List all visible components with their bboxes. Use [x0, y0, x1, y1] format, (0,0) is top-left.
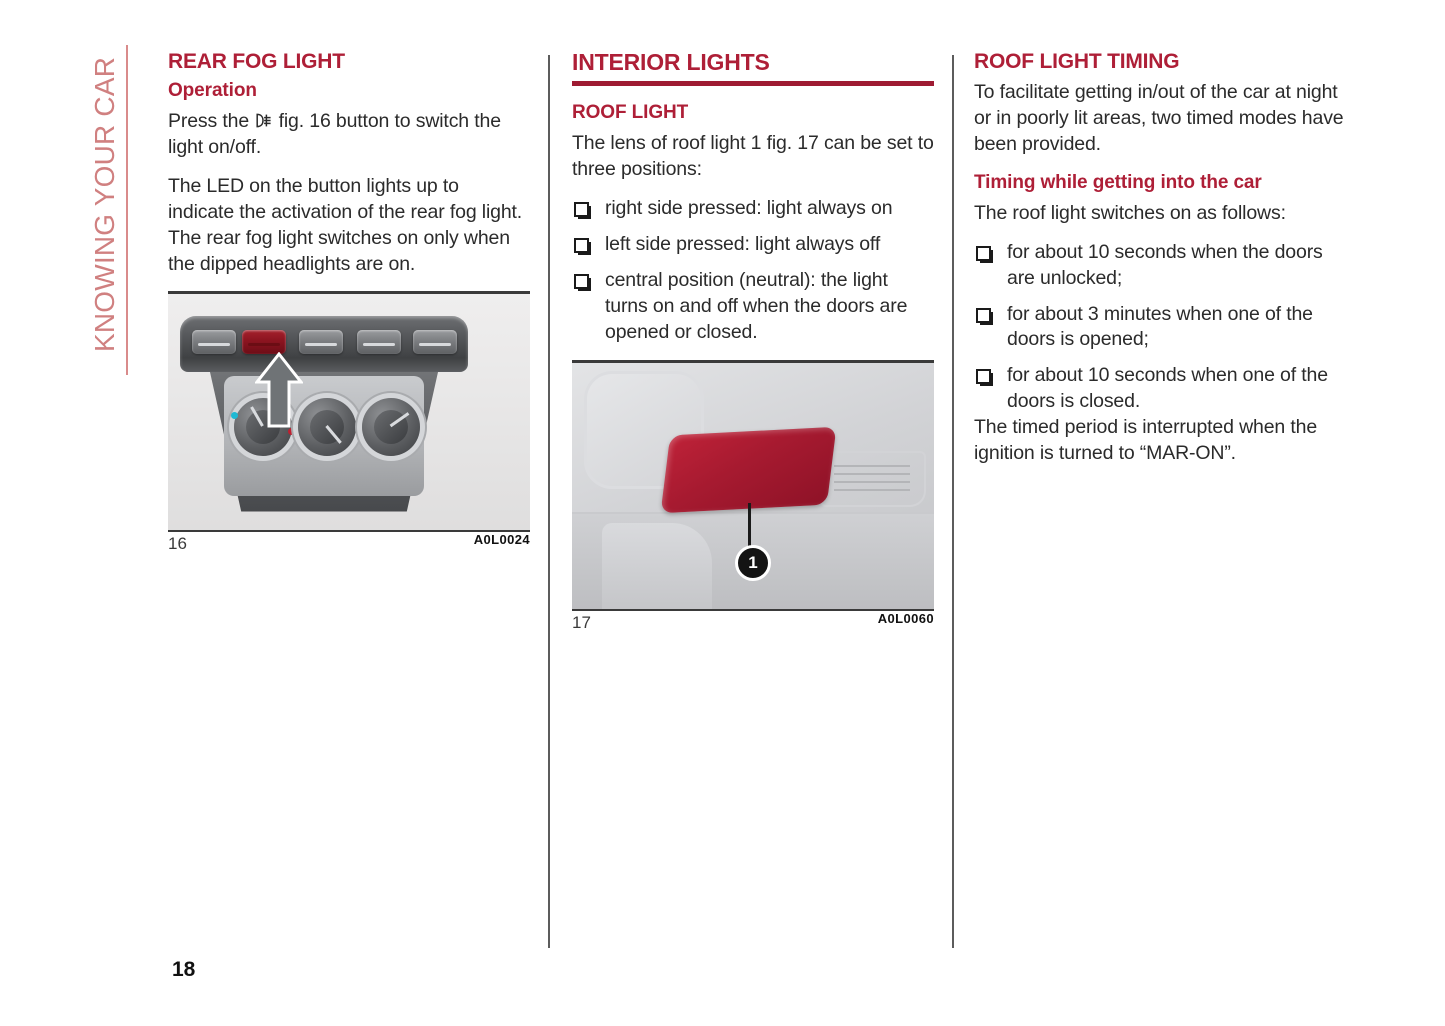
roof-light-timing-list: for about 10 seconds when the doors are … [974, 240, 1346, 416]
pillar-trim [602, 523, 712, 609]
figure-16-number: 16 [168, 534, 187, 554]
subheading-operation: Operation [168, 80, 530, 102]
paragraph-timed-period-interrupted: The timed period is interrupted when the… [974, 415, 1346, 467]
callout-arrow-icon [255, 352, 303, 428]
chapter-side-tab: KNOWING YOUR CAR [78, 45, 128, 375]
paragraph-press-button-part1: Press the [168, 110, 254, 132]
console-button-3 [299, 330, 343, 354]
figure-16-image [168, 294, 530, 530]
heading-interior-lights: INTERIOR LIGHTS [572, 50, 934, 78]
square-bullet-icon [574, 274, 589, 289]
figure-16-code: A0L0024 [474, 532, 530, 547]
console-button-5 [413, 330, 457, 354]
figure-16-caption: 16 A0L0024 [168, 532, 530, 558]
paragraph-switches-on-as-follows: The roof light switches on as follows: [974, 201, 1346, 227]
column-left: REAR FOG LIGHT Operation Press the fig. … [168, 50, 530, 558]
paragraph-timed-modes: To facilitate getting in/out of the car … [974, 80, 1346, 158]
figure-17-number: 17 [572, 613, 591, 633]
square-bullet-icon [976, 369, 991, 384]
column-middle: INTERIOR LIGHTS ROOF LIGHT The lens of r… [572, 50, 934, 637]
square-bullet-icon [574, 202, 589, 217]
heading-roof-light-timing: ROOF LIGHT TIMING [974, 50, 1346, 74]
paragraph-lens-positions: The lens of roof light 1 fig. 17 can be … [572, 131, 934, 183]
console-button-bar [180, 316, 468, 372]
air-distribution-dial [362, 398, 420, 456]
list-item: central position (neutral): the light tu… [572, 268, 934, 346]
page-number: 18 [172, 958, 195, 982]
heading-rear-fog-light: REAR FOG LIGHT [168, 50, 530, 74]
side-tab-rule [126, 45, 128, 375]
roof-light-position-list: right side pressed: light always on left… [572, 196, 934, 346]
climate-console [180, 316, 468, 514]
fan-speed-dial [298, 398, 356, 456]
square-bullet-icon [976, 246, 991, 261]
console-dial-panel [224, 376, 424, 496]
figure-17-caption: 17 A0L0060 [572, 611, 934, 637]
overhead-console-vent [820, 451, 926, 507]
paragraph-led-indication: The LED on the button lights up to indic… [168, 174, 530, 278]
subheading-timing-getting-in: Timing while getting into the car [974, 172, 1346, 194]
list-item: for about 3 minutes when one of the door… [974, 302, 1346, 354]
callout-marker-1: 1 [735, 545, 771, 581]
square-bullet-icon [976, 308, 991, 323]
column-divider-1 [548, 55, 550, 948]
heading-interior-lights-rule [572, 81, 934, 86]
figure-17-code: A0L0060 [878, 611, 934, 626]
list-item: for about 10 seconds when one of the doo… [974, 363, 1346, 415]
list-item: for about 10 seconds when the doors are … [974, 240, 1346, 292]
roof-light-lens [661, 426, 837, 513]
subheading-roof-light: ROOF LIGHT [572, 102, 934, 124]
side-tab-label: KNOWING YOUR CAR [89, 32, 121, 352]
list-item: left side pressed: light always off [572, 232, 934, 258]
rear-fog-light-symbol [255, 111, 272, 128]
figure-16: 16 A0L0024 [168, 291, 530, 558]
paragraph-press-button: Press the fig. 16 button to switch the l… [168, 109, 530, 161]
rear-fog-light-button [242, 330, 286, 354]
manual-page: KNOWING YOUR CAR REAR FOG LIGHT Operatio… [0, 0, 1445, 1026]
figure-17-image: 1 [572, 363, 934, 609]
square-bullet-icon [574, 238, 589, 253]
console-button-1 [192, 330, 236, 354]
column-divider-2 [952, 55, 954, 948]
console-button-4 [357, 330, 401, 354]
list-item: right side pressed: light always on [572, 196, 934, 222]
figure-17: 1 17 A0L0060 [572, 360, 934, 637]
column-right: ROOF LIGHT TIMING To facilitate getting … [974, 50, 1346, 480]
